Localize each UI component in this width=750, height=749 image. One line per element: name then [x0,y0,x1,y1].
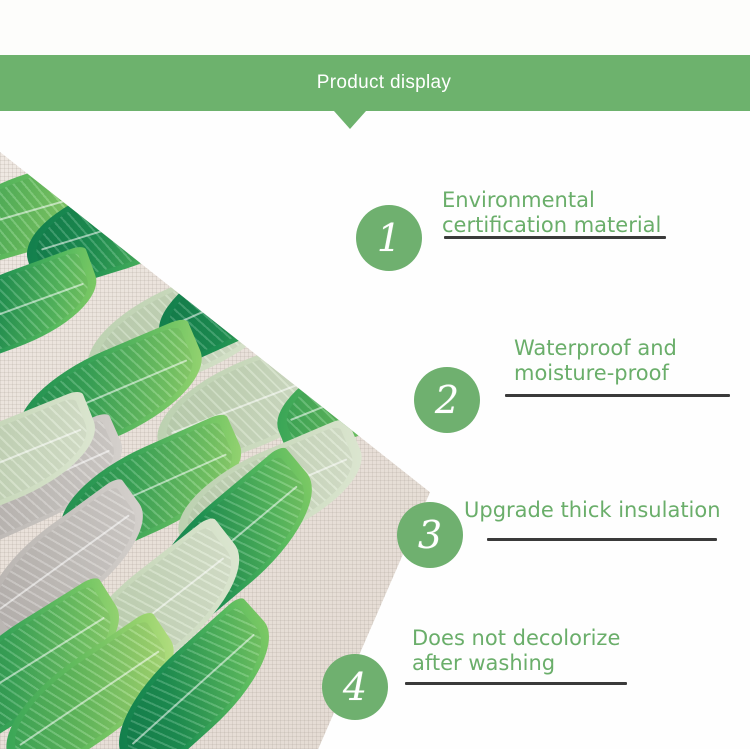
banner-arrow-notch [334,111,366,129]
feature-text-4: Does not decolorize after washing [412,626,682,676]
feature-text-2: Waterproof and moisture-proof [514,336,750,386]
product-display-banner: Product display [0,55,750,111]
feature-number-badge-4: 4 [322,654,388,720]
feature-underline-3 [487,538,717,541]
feature-number-badge-1: 1 [356,205,422,271]
feature-underline-2 [505,394,730,397]
top-white-strip [0,0,750,55]
feature-underline-4 [405,682,627,685]
banner-title: Product display [299,72,451,94]
feature-underline-1 [444,236,666,239]
feature-number-badge-3: 3 [397,502,463,568]
feature-text-1: Environmental certification material [442,188,732,238]
feature-number-badge-2: 2 [414,367,480,433]
product-display-page: Product display 1 Environmental c [0,0,750,749]
feature-text-3: Upgrade thick insulation [464,498,750,523]
